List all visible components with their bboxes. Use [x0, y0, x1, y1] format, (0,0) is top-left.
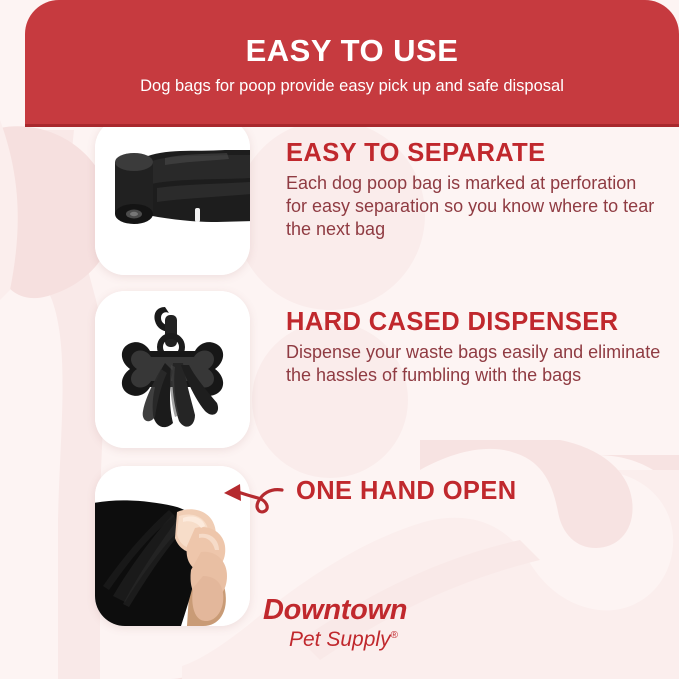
feature-title-2: HARD CASED DISPENSER	[286, 309, 661, 337]
header-banner: EASY TO USE Dog bags for poop provide ea…	[25, 0, 679, 127]
brand-name-primary: Downtown	[263, 596, 407, 625]
feature-description-2: Dispense your waste bags easily and elim…	[286, 341, 661, 387]
page-subtitle: Dog bags for poop provide easy pick up a…	[140, 77, 564, 97]
registered-trademark-icon: ®	[391, 630, 398, 641]
feature-description-1: Each dog poop bag is marked at perforati…	[286, 172, 661, 241]
feature-row-2: HARD CASED DISPENSER Dispense your waste…	[95, 291, 661, 448]
curly-arrow-annotation	[218, 480, 286, 528]
feature-image-card-1	[95, 118, 250, 275]
feature-text-2: HARD CASED DISPENSER Dispense your waste…	[286, 291, 661, 387]
watermark-swoosh-left	[0, 120, 18, 300]
curly-arrow-icon	[218, 480, 286, 528]
brand-name-secondary: Pet Supply®	[289, 629, 407, 650]
feature-title-3: ONE HAND OPEN	[296, 478, 671, 506]
page-title: EASY TO USE	[246, 34, 459, 68]
feature-row-1: EASY TO SEPARATE Each dog poop bag is ma…	[95, 118, 661, 275]
feature-image-card-2	[95, 291, 250, 448]
infographic-root: EASY TO USE Dog bags for poop provide ea…	[0, 0, 679, 679]
feature-title-1: EASY TO SEPARATE	[286, 140, 661, 168]
feature-text-1: EASY TO SEPARATE Each dog poop bag is ma…	[286, 118, 661, 241]
bone-shaped-dispenser-icon	[95, 291, 250, 448]
brand-name-secondary-text: Pet Supply	[289, 628, 391, 651]
brand-logo: Downtown Pet Supply®	[263, 596, 407, 650]
watermark-band-left	[16, 130, 104, 679]
feature-text-3: ONE HAND OPEN	[296, 466, 671, 506]
roll-of-black-poop-bags-icon	[95, 118, 250, 275]
